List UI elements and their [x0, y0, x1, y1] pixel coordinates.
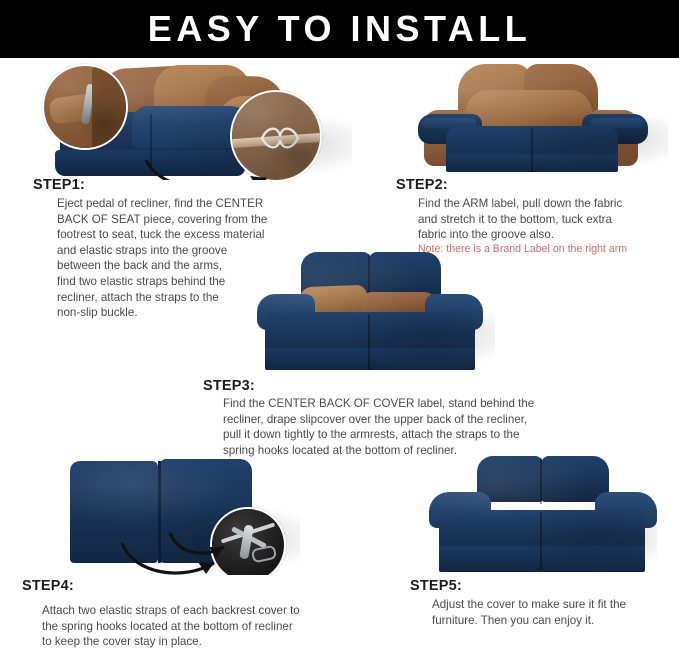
step4-body: Attach two elastic straps of each backre… [42, 603, 362, 650]
step1-arrow-icon [142, 154, 292, 180]
step1-image [22, 62, 352, 180]
step1-label: STEP1: [33, 177, 85, 193]
step3-body: Find the CENTER BACK OF COVER label, sta… [223, 396, 623, 458]
step2-body: Find the ARM label, pull down the fabric… [418, 196, 679, 243]
step4-image [60, 455, 300, 575]
step4-label: STEP4: [22, 578, 74, 594]
buckle-glyph [258, 122, 302, 152]
step5-body: Adjust the cover to make sure it fit the… [432, 597, 679, 628]
step2-label: STEP2: [396, 177, 448, 193]
page-title: EASY TO INSTALL [148, 11, 532, 47]
step3-label: STEP3: [203, 378, 255, 394]
step5-image [425, 452, 657, 574]
step3-image [243, 250, 495, 372]
header-banner: EASY TO INSTALL [0, 0, 679, 58]
step5-label: STEP5: [410, 578, 462, 594]
step1-inset-pedal [42, 64, 128, 150]
step4-arrow-icon-right [168, 531, 240, 565]
step2-image [396, 62, 668, 172]
